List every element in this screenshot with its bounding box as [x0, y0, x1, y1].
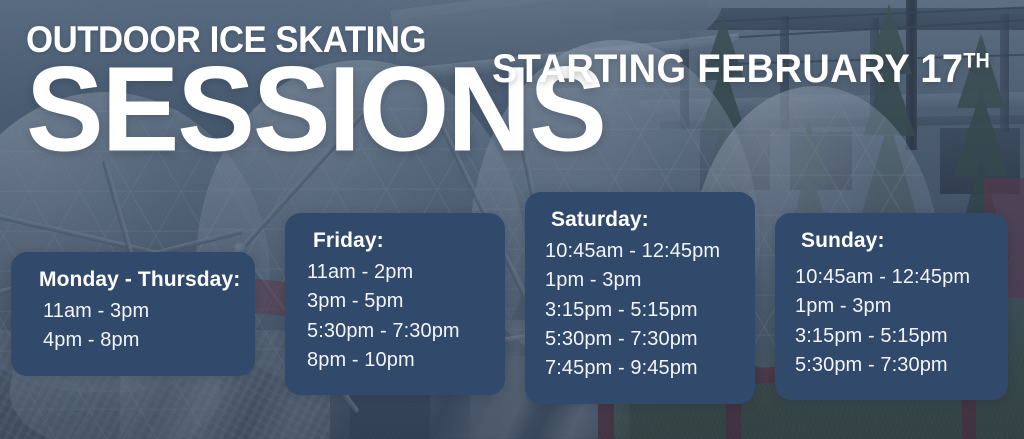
schedule-card-saturday: Saturday: 10:45am - 12:45pm 1pm - 3pm 3:… [525, 192, 755, 404]
schedule-slot-list: 11am - 2pm 3pm - 5pm 5:30pm - 7:30pm 8pm… [303, 258, 487, 376]
schedule-slot: 3pm - 5pm [307, 287, 487, 316]
schedule-day-label: Saturday: [543, 206, 737, 234]
schedule-day-label: Friday: [303, 227, 487, 255]
schedule-slot-list: 10:45am - 12:45pm 1pm - 3pm 3:15pm - 5:1… [793, 263, 990, 381]
schedule-card-monday-thursday: Monday - Thursday: 11am - 3pm 4pm - 8pm [11, 252, 255, 376]
schedule-day-label: Sunday: [793, 227, 990, 255]
start-date-subhead: STARTING FEBRUARY 17TH [492, 49, 990, 89]
schedule-slot: 11am - 2pm [307, 258, 487, 287]
schedule-slot: 4pm - 8pm [43, 326, 237, 355]
schedule-card-sunday: Sunday: 10:45am - 12:45pm 1pm - 3pm 3:15… [775, 213, 1008, 400]
start-date-ordinal: TH [963, 50, 989, 73]
poster: OUTDOOR ICE SKATING SESSIONS STARTING FE… [0, 0, 1024, 439]
schedule-slot: 3:15pm - 5:15pm [545, 296, 737, 325]
schedule-slot: 8pm - 10pm [307, 346, 487, 375]
schedule-day-label: Monday - Thursday: [29, 266, 237, 294]
schedule-slot: 10:45am - 12:45pm [795, 263, 990, 292]
schedule-slot-list: 10:45am - 12:45pm 1pm - 3pm 3:15pm - 5:1… [543, 237, 737, 384]
schedule-slot-list: 11am - 3pm 4pm - 8pm [29, 297, 237, 356]
schedule-slot: 7:45pm - 9:45pm [545, 354, 737, 383]
schedule-card-friday: Friday: 11am - 2pm 3pm - 5pm 5:30pm - 7:… [285, 213, 505, 395]
schedule-slot: 3:15pm - 5:15pm [795, 322, 990, 351]
schedule-slot: 1pm - 3pm [795, 292, 990, 321]
start-date-text: STARTING FEBRUARY 17 [492, 47, 963, 91]
schedule-slot: 5:30pm - 7:30pm [545, 325, 737, 354]
schedule-slot: 1pm - 3pm [545, 266, 737, 295]
schedule-slot: 5:30pm - 7:30pm [307, 317, 487, 346]
schedule-slot: 5:30pm - 7:30pm [795, 351, 990, 380]
schedule-slot: 10:45am - 12:45pm [545, 237, 737, 266]
schedule-slot: 11am - 3pm [43, 297, 237, 326]
